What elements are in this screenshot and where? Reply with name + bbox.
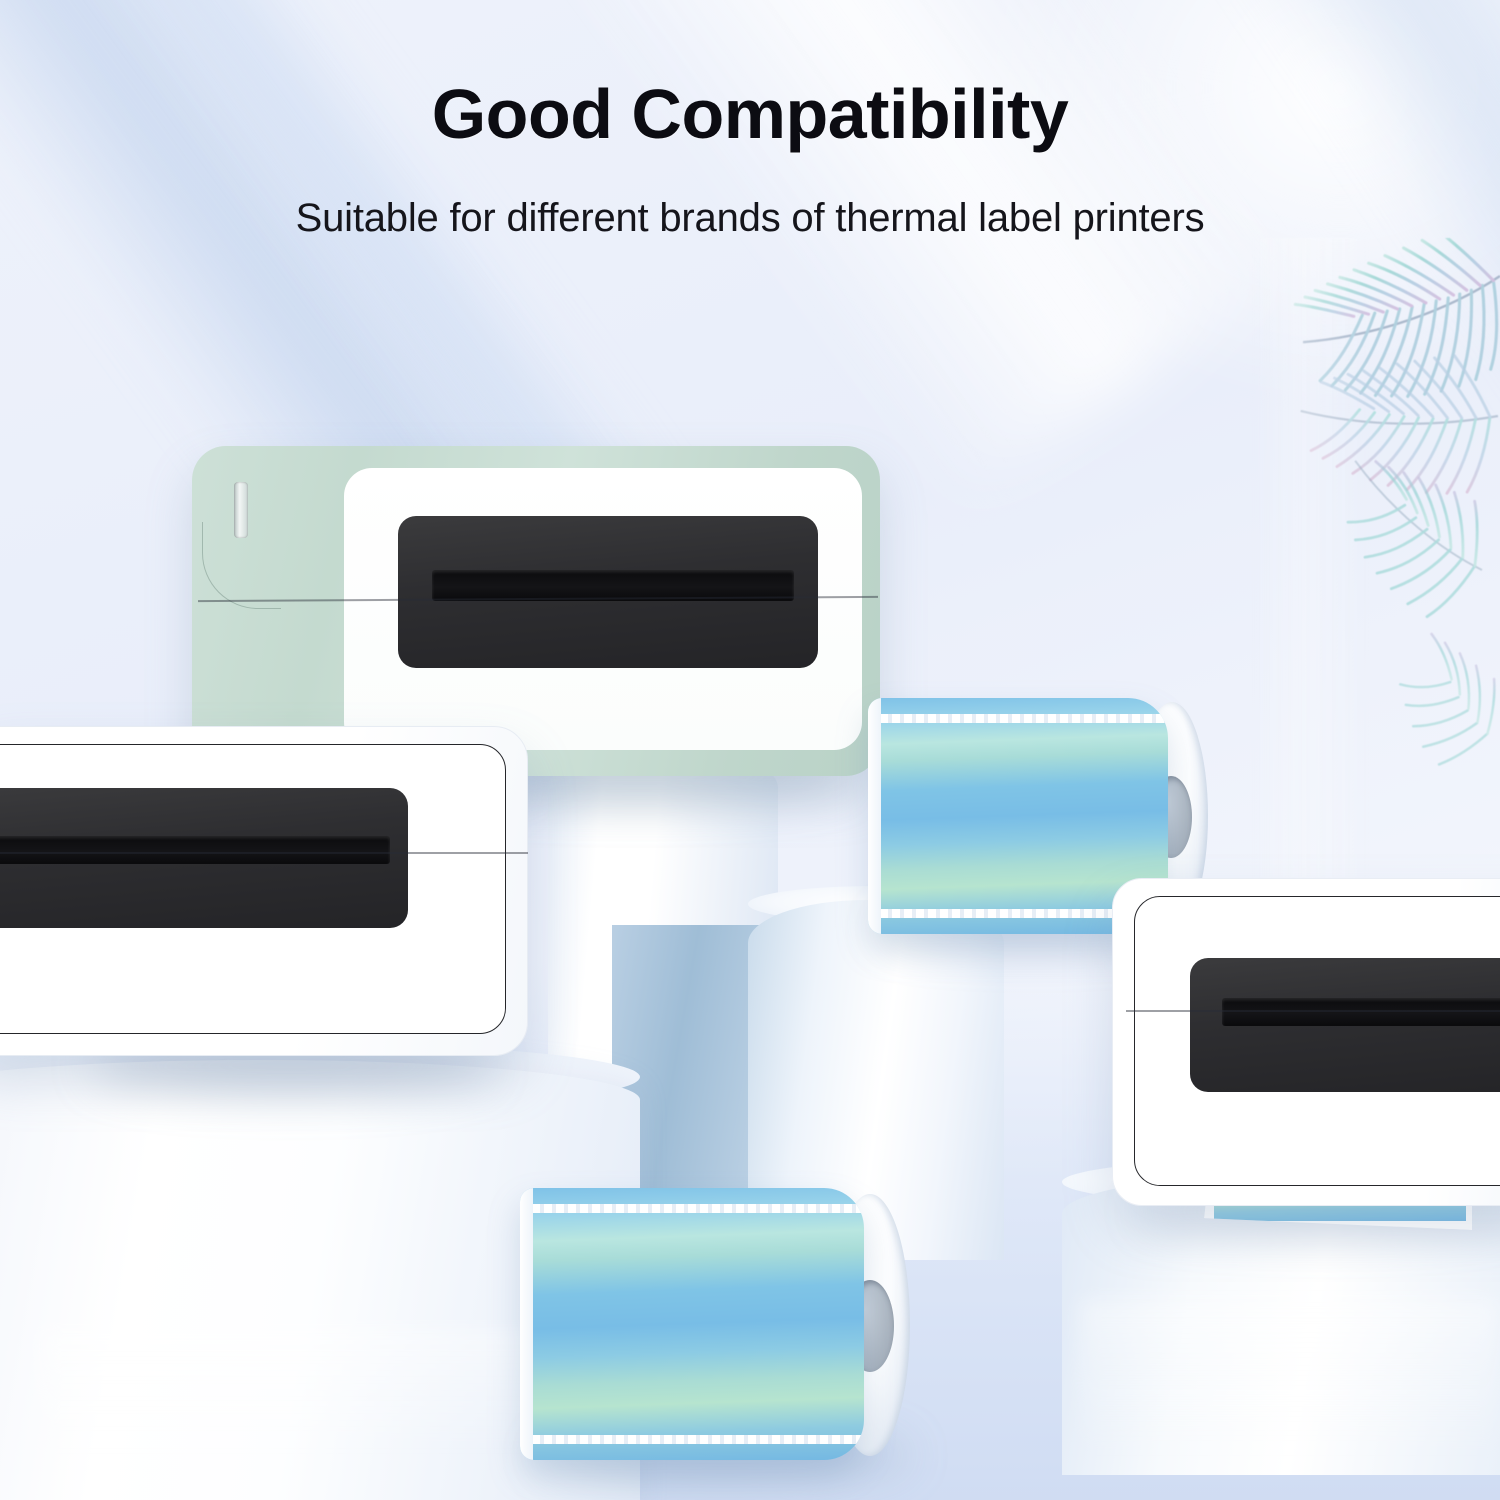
palm-leaf-icon [1250,238,1500,878]
perforation-line-top [520,1204,864,1213]
white-thermal-label-printer-right[interactable] [1112,878,1500,1206]
printer-label-slot [1222,998,1500,1026]
roll-left-edge [520,1188,533,1460]
printer-lid-seam [1126,1010,1500,1012]
printer-lid-seam [0,852,528,854]
roll-label-surface [520,1188,864,1460]
white-thermal-label-printer-left[interactable] [0,726,528,1056]
product-marketing-image: Good Compatibility Suitable for differen… [0,0,1500,1500]
printer-status-indicator[interactable] [234,482,248,538]
holographic-label-roll-lower[interactable] [520,1188,910,1460]
header-block: Good Compatibility Suitable for differen… [0,78,1500,240]
page-title: Good Compatibility [0,78,1500,152]
page-subtitle: Suitable for different brands of thermal… [0,196,1500,240]
perforation-line-top [868,714,1168,723]
holographic-surface [520,1188,864,1460]
roll-left-edge [868,698,881,934]
printer-label-slot [0,836,390,864]
perforation-line-bottom [520,1435,864,1444]
